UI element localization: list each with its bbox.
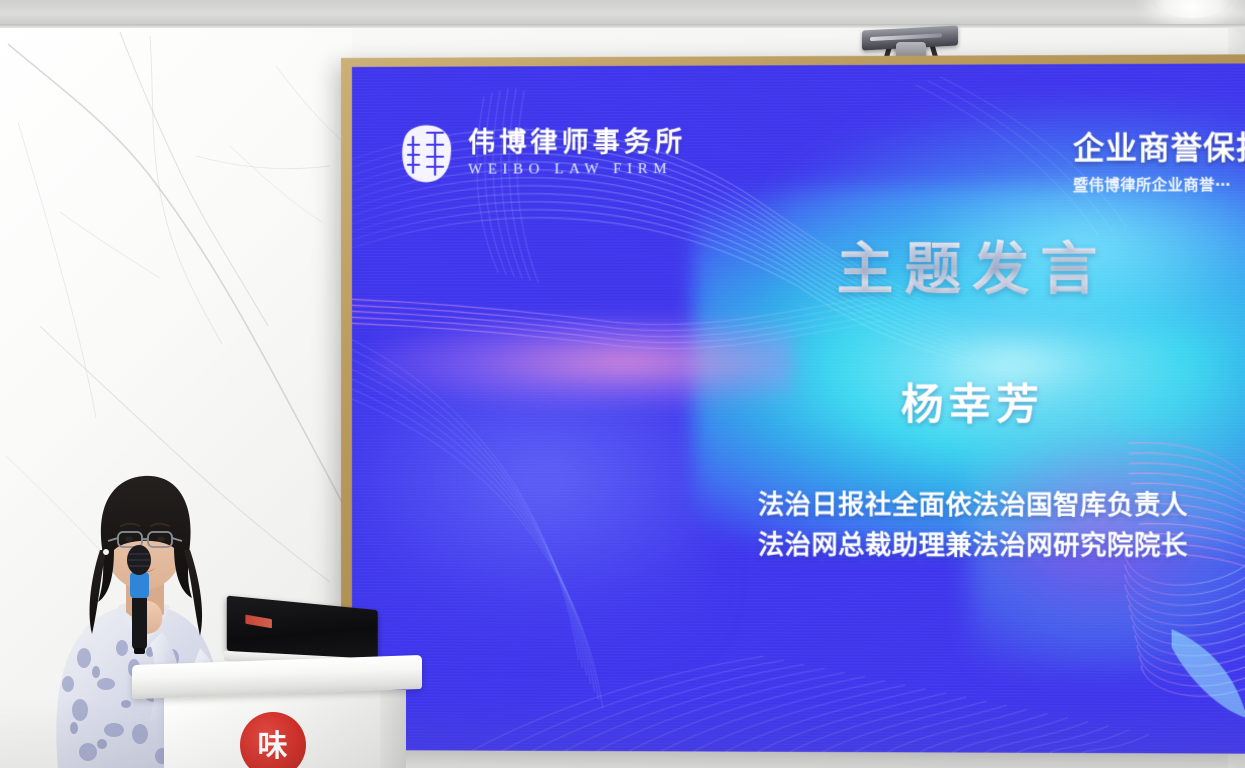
event-title-sub: 暨伟博律所企业商誉⋯ — [1073, 173, 1245, 195]
slide-speaker-name: 杨幸芳 — [800, 371, 1145, 433]
slide-speaker-roles: 法治日报社全面依法治国智库负责人 法治网总裁助理兼法治网研究院院长 — [649, 485, 1245, 567]
presentation-slide: 伟博律师事务所 WEIBO LAW FIRM 企业商誉保护⋯ 暨伟博律所企业商誉… — [352, 63, 1245, 753]
microphone — [112, 536, 164, 654]
earring — [103, 549, 109, 555]
speaker-role-line-1: 法治日报社全面依法治国智库负责人 — [649, 485, 1245, 526]
event-corner-title: 企业商誉保护⋯ 暨伟博律所企业商誉⋯ — [1073, 122, 1245, 195]
display-screen-frame: 伟博律师事务所 WEIBO LAW FIRM 企业商誉保护⋯ 暨伟博律所企业商誉… — [341, 54, 1245, 753]
law-firm-name-cn: 伟博律师事务所 — [468, 128, 686, 158]
event-title-main: 企业商誉保护⋯ — [1073, 122, 1245, 168]
slide-logo: 伟博律师事务所 WEIBO LAW FIRM — [399, 122, 686, 185]
speaker-role-line-2: 法治网总裁助理兼法治网研究院院长 — [649, 526, 1245, 568]
ceiling-light — [1149, 0, 1235, 18]
slide-main-title: 主题发言 — [800, 223, 1145, 305]
law-firm-name-en: WEIBO LAW FIRM — [468, 161, 686, 179]
law-firm-seal-icon — [399, 123, 454, 185]
conference-room-photo: 伟博律师事务所 WEIBO LAW FIRM 企业商誉保护⋯ 暨伟博律所企业商誉… — [0, 0, 1245, 768]
ceiling — [0, 0, 1245, 26]
laptop-brand-logo-icon — [245, 615, 272, 629]
floor-shadow — [0, 698, 1245, 768]
ceiling-edge — [0, 24, 1245, 28]
